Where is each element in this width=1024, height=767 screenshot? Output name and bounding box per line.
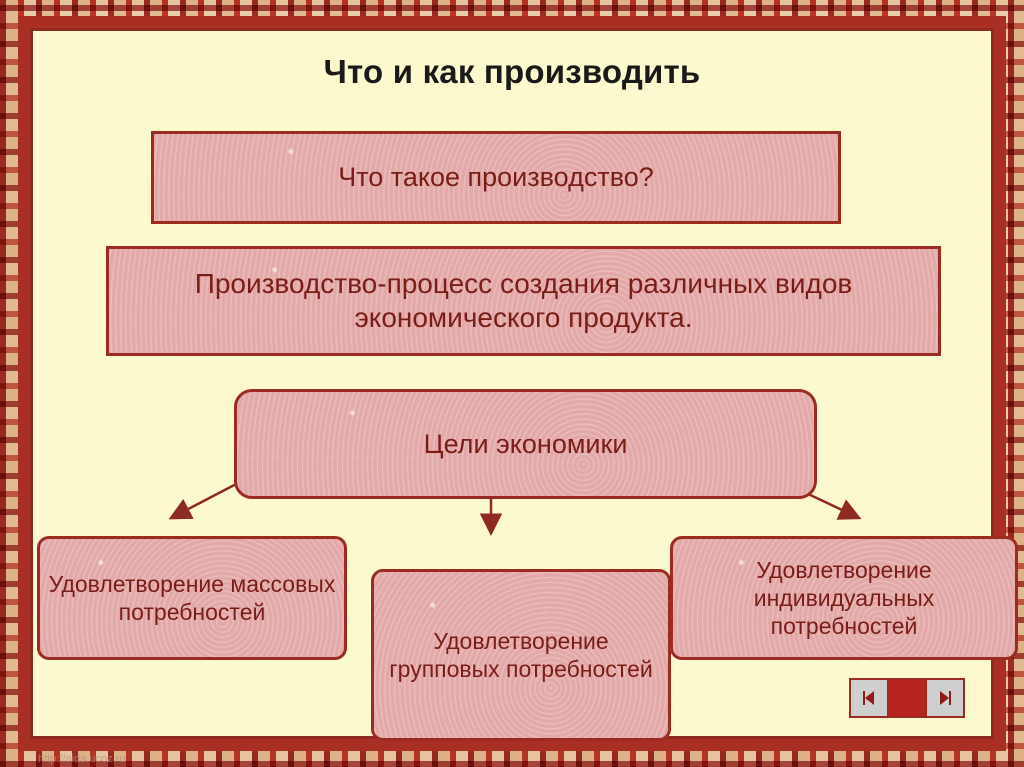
box-economy-goals-label: Цели экономики	[424, 428, 628, 461]
next-slide-icon	[935, 688, 955, 708]
page-title: Что и как производить	[33, 53, 991, 91]
box-individual-needs-label: Удовлетворение индивидуальных потребност…	[681, 556, 1007, 640]
box-mass-needs-label: Удовлетворение массовых потребностей	[48, 570, 336, 626]
stop-button[interactable]	[889, 680, 927, 716]
box-mass-needs: Удовлетворение массовых потребностей	[37, 536, 347, 660]
slide-canvas: Что и как производить Что такое производ…	[30, 28, 994, 739]
navigation-controls[interactable]	[849, 678, 965, 718]
next-slide-button[interactable]	[927, 680, 963, 716]
box-individual-needs: Удовлетворение индивидуальных потребност…	[670, 536, 1018, 660]
box-group-needs: Удовлетворение групповых потребностей	[371, 569, 671, 741]
box-production-definition: Производство-процесс создания различных …	[106, 246, 941, 356]
box-what-is-production: Что такое производство?	[151, 131, 841, 224]
box-group-needs-label: Удовлетворение групповых потребностей	[382, 627, 660, 683]
previous-slide-button[interactable]	[851, 680, 889, 716]
previous-slide-icon	[859, 688, 879, 708]
slide-root: Что и как производить Что такое производ…	[0, 0, 1024, 767]
watermark: http://aida.ucoz.ru	[38, 753, 125, 765]
box-what-is-production-label: Что такое производство?	[338, 161, 654, 194]
box-production-definition-label: Производство-процесс создания различных …	[123, 267, 924, 335]
box-economy-goals: Цели экономики	[234, 389, 817, 499]
stop-icon	[898, 689, 916, 707]
